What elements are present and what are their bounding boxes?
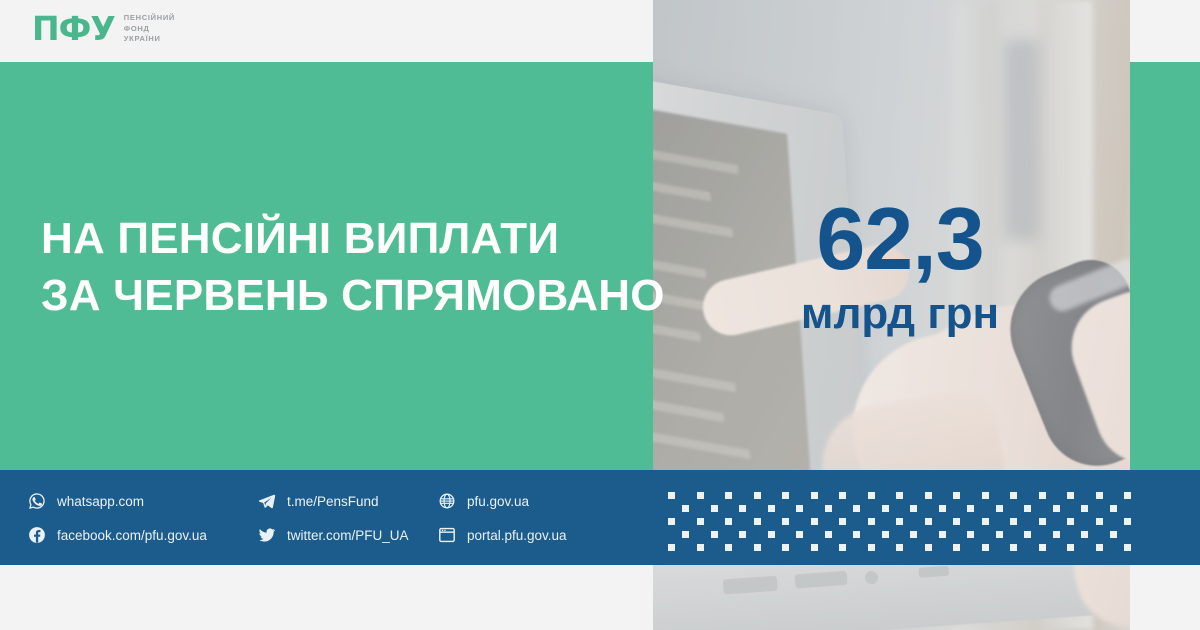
contact-facebook[interactable]: facebook.com/pfu.gov.ua — [28, 526, 258, 544]
pattern-square — [1124, 492, 1131, 499]
pattern-square — [996, 505, 1003, 512]
facebook-icon — [28, 526, 46, 544]
pattern-square — [668, 518, 675, 525]
logo-mark: ПФУ — [32, 12, 115, 45]
pattern-square — [697, 544, 704, 551]
logo-word-line1: ПЕНСІЙНИЙ — [124, 13, 175, 24]
pattern-square — [839, 492, 846, 499]
pattern-square — [1110, 505, 1117, 512]
pattern-square — [1067, 492, 1074, 499]
pattern-square — [910, 531, 917, 538]
pattern-square — [839, 518, 846, 525]
pattern-square — [825, 531, 832, 538]
pattern-square — [1110, 531, 1117, 538]
pattern-square — [1067, 518, 1074, 525]
decorative-dot-pattern — [668, 492, 1130, 548]
contact-label: t.me/PensFund — [287, 494, 379, 509]
pattern-square — [739, 505, 746, 512]
pattern-square — [953, 518, 960, 525]
pattern-square — [839, 544, 846, 551]
pattern-square — [1010, 492, 1017, 499]
pattern-square — [896, 544, 903, 551]
pattern-square — [953, 492, 960, 499]
pattern-square — [682, 505, 689, 512]
telegram-icon — [258, 492, 276, 510]
pattern-square — [1096, 492, 1103, 499]
pattern-square — [725, 544, 732, 551]
logo-word-line2: ФОНД — [124, 24, 175, 35]
pattern-square — [1096, 518, 1103, 525]
contact-label: twitter.com/PFU_UA — [287, 528, 409, 543]
pattern-square — [896, 492, 903, 499]
pattern-square — [982, 492, 989, 499]
pattern-square — [668, 492, 675, 499]
pattern-square — [725, 518, 732, 525]
pattern-square — [910, 505, 917, 512]
contact-label: portal.pfu.gov.ua — [467, 528, 567, 543]
pattern-square — [711, 505, 718, 512]
globe-icon — [438, 492, 456, 510]
pattern-square — [782, 544, 789, 551]
pattern-square — [697, 518, 704, 525]
pattern-square — [1053, 505, 1060, 512]
pattern-square — [811, 518, 818, 525]
pattern-square — [754, 518, 761, 525]
pattern-square — [682, 531, 689, 538]
pattern-square — [996, 531, 1003, 538]
pattern-square — [725, 492, 732, 499]
contact-list: whatsapp.com t.me/PensFund pfu.gov.ua — [28, 484, 648, 554]
pattern-square — [754, 544, 761, 551]
pattern-square — [939, 505, 946, 512]
pattern-square — [882, 505, 889, 512]
pattern-square — [1081, 505, 1088, 512]
headline-line-2: ЗА ЧЕРВЕНЬ СПРЯМОВАНО — [41, 267, 641, 324]
pfu-logo[interactable]: ПФУ ПЕНСІЙНИЙ ФОНД УКРАЇНИ — [32, 12, 175, 45]
pattern-square — [1081, 531, 1088, 538]
pattern-square — [925, 492, 932, 499]
pattern-square — [768, 505, 775, 512]
pattern-square — [1010, 544, 1017, 551]
pattern-square — [1124, 544, 1131, 551]
pattern-square — [811, 544, 818, 551]
contact-whatsapp[interactable]: whatsapp.com — [28, 492, 258, 510]
pattern-square — [739, 531, 746, 538]
pattern-square — [853, 505, 860, 512]
pattern-square — [1039, 492, 1046, 499]
pattern-square — [982, 518, 989, 525]
pattern-square — [796, 531, 803, 538]
pattern-square — [1039, 518, 1046, 525]
pattern-square — [925, 518, 932, 525]
pattern-square — [1024, 505, 1031, 512]
pattern-square — [768, 531, 775, 538]
poster-canvas: ПФУ ПЕНСІЙНИЙ ФОНД УКРАЇНИ НА ПЕНСІЙНІ В… — [0, 0, 1200, 630]
pattern-square — [782, 492, 789, 499]
contact-label: facebook.com/pfu.gov.ua — [57, 528, 207, 543]
pattern-square — [967, 505, 974, 512]
pattern-square — [1067, 544, 1074, 551]
top-right-background-strip — [1130, 0, 1200, 62]
pattern-square — [967, 531, 974, 538]
pattern-square — [1053, 531, 1060, 538]
pattern-square — [782, 518, 789, 525]
pattern-square — [1096, 544, 1103, 551]
logo-wordmark: ПЕНСІЙНИЙ ФОНД УКРАЇНИ — [124, 12, 175, 45]
pattern-square — [811, 492, 818, 499]
pattern-square — [939, 531, 946, 538]
contact-website[interactable]: pfu.gov.ua — [438, 492, 638, 510]
pattern-square — [711, 531, 718, 538]
pattern-square — [953, 544, 960, 551]
pattern-square — [868, 544, 875, 551]
pattern-square — [868, 518, 875, 525]
pattern-square — [796, 505, 803, 512]
pattern-square — [868, 492, 875, 499]
contact-label: pfu.gov.ua — [467, 494, 529, 509]
contact-portal[interactable]: portal.pfu.gov.ua — [438, 526, 638, 544]
contact-label: whatsapp.com — [57, 494, 144, 509]
bottom-left-background-strip — [0, 565, 653, 630]
stat-value: 62,3 — [760, 196, 1040, 282]
green-panel-right-edge — [1130, 62, 1200, 470]
twitter-icon — [258, 526, 276, 544]
bottom-right-background-strip — [1130, 565, 1200, 630]
pattern-square — [1010, 518, 1017, 525]
stat-unit: млрд грн — [760, 288, 1040, 340]
contact-twitter[interactable]: twitter.com/PFU_UA — [258, 526, 438, 544]
whatsapp-icon — [28, 492, 46, 510]
pattern-square — [1024, 531, 1031, 538]
pattern-square — [882, 531, 889, 538]
pattern-square — [754, 492, 761, 499]
pattern-square — [925, 544, 932, 551]
stat-block: 62,3 млрд грн — [760, 196, 1040, 340]
pattern-square — [697, 492, 704, 499]
pattern-square — [1039, 544, 1046, 551]
logo-word-line3: УКРАЇНИ — [124, 34, 175, 45]
pattern-square — [825, 505, 832, 512]
browser-window-icon — [438, 526, 456, 544]
pattern-square — [982, 544, 989, 551]
contact-telegram[interactable]: t.me/PensFund — [258, 492, 438, 510]
headline-line-1: НА ПЕНСІЙНІ ВИПЛАТИ — [41, 210, 641, 267]
pattern-square — [853, 531, 860, 538]
pattern-square — [668, 544, 675, 551]
headline: НА ПЕНСІЙНІ ВИПЛАТИ ЗА ЧЕРВЕНЬ СПРЯМОВАН… — [41, 210, 641, 324]
pattern-square — [896, 518, 903, 525]
footer-bar-right-edge — [1130, 470, 1200, 565]
pattern-square — [1124, 518, 1131, 525]
